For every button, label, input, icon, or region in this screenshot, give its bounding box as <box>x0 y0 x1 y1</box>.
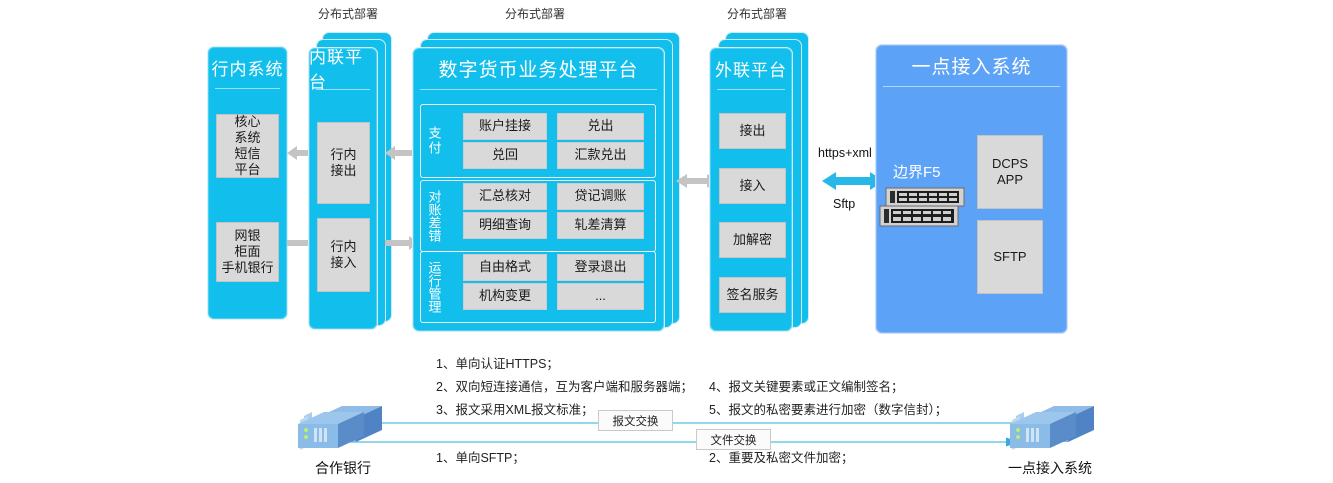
group-label-operations: 运行管理 <box>421 252 447 322</box>
caption-distributed-2: 分布式部署 <box>505 5 565 22</box>
chip-line: 核心 <box>234 114 260 130</box>
note-left-1: 1、单向认证HTTPS； <box>436 353 559 372</box>
flow-line-file-exchange <box>340 437 1020 447</box>
note-right-5: 5、报文的私密要素进行加密（数字信封）； <box>709 399 947 418</box>
server-icon-partner-bank <box>296 402 384 450</box>
link-label-message-exchange[interactable]: 报文交换 <box>598 410 673 431</box>
chip-line: DCPS <box>992 156 1028 172</box>
device-label-partner-bank: 合作银行 <box>296 458 390 478</box>
chip-line: 行内 <box>330 239 356 255</box>
chip-more[interactable]: ... <box>557 283 644 310</box>
label-sftp: Sftp <box>833 197 855 211</box>
caption-distributed-1: 分布式部署 <box>318 5 378 22</box>
panel-title-intranet: 内联平台 <box>309 48 377 88</box>
chip-encrypt-decrypt[interactable]: 加解密 <box>719 222 786 258</box>
title-divider <box>215 88 280 89</box>
title-divider <box>316 89 370 90</box>
chip-ext-in[interactable]: 接入 <box>719 168 786 204</box>
chip-exchange-out[interactable]: 兑出 <box>557 113 644 140</box>
chip-sftp[interactable]: SFTP <box>977 220 1043 294</box>
chip-remittance-out[interactable]: 汇款兑出 <box>557 142 644 169</box>
chip-core-system[interactable]: 核心 系统 短信 平台 <box>216 114 279 178</box>
chip-dcps-app[interactable]: DCPS APP <box>977 135 1043 209</box>
chip-line: APP <box>997 172 1023 188</box>
device-label-access-system: 一点接入系统 <box>994 458 1106 478</box>
chip-summary-check[interactable]: 汇总核对 <box>463 183 547 210</box>
chip-line: 柜面 <box>234 244 260 260</box>
title-divider <box>717 89 785 90</box>
chip-line: 网银 <box>234 228 260 244</box>
group-label-reconciliation: 对账差错 <box>421 181 447 251</box>
chip-credit-adjust[interactable]: 贷记调账 <box>557 183 644 210</box>
chip-line: 短信 <box>234 146 260 162</box>
group-label-payment: 支付 <box>421 105 447 177</box>
flow-line-message-exchange <box>340 418 1020 428</box>
chip-login-logout[interactable]: 登录退出 <box>557 254 644 281</box>
label-border-f5: 边界F5 <box>893 161 941 182</box>
caption-distributed-3: 分布式部署 <box>727 5 787 22</box>
panel-title-access-system: 一点接入系统 <box>876 45 1067 85</box>
chip-line: 行内 <box>330 147 356 163</box>
chip-signature-service[interactable]: 签名服务 <box>719 277 786 313</box>
label-https-xml: https+xml <box>818 146 872 160</box>
note-bottom-left-1: 1、单向SFTP； <box>436 447 525 466</box>
chip-account-link[interactable]: 账户挂接 <box>463 113 547 140</box>
chip-line: 接入 <box>330 255 356 271</box>
chip-exchange-back[interactable]: 兑回 <box>463 142 547 169</box>
chip-net-settlement[interactable]: 轧差清算 <box>557 212 644 239</box>
chip-intranet-in[interactable]: 行内 接入 <box>317 218 370 292</box>
chip-free-format[interactable]: 自由格式 <box>463 254 547 281</box>
chip-ext-out[interactable]: 接出 <box>719 113 786 149</box>
panel-title-external: 外联平台 <box>710 48 792 88</box>
panel-title-dcep: 数字货币业务处理平台 <box>413 48 664 88</box>
f5-device-icon <box>878 186 970 230</box>
note-right-4: 4、报文关键要素或正文编制签名； <box>709 376 903 395</box>
link-label-file-exchange[interactable]: 文件交换 <box>696 429 771 450</box>
chip-org-change[interactable]: 机构变更 <box>463 283 547 310</box>
chip-line: 接出 <box>330 163 356 179</box>
panel-title-bank-internal: 行内系统 <box>208 47 287 87</box>
note-left-3: 3、报文采用XML报文标准； <box>436 399 594 418</box>
chip-intranet-out[interactable]: 行内 接出 <box>317 122 370 204</box>
chip-line: 系统 <box>234 130 260 146</box>
chip-line: 平台 <box>234 162 260 178</box>
title-divider <box>883 86 1060 87</box>
chip-line: 手机银行 <box>221 260 273 276</box>
title-divider <box>420 89 657 90</box>
chip-detail-query[interactable]: 明细查询 <box>463 212 547 239</box>
server-icon-access-system <box>1008 402 1096 450</box>
note-left-2: 2、双向短连接通信，互为客户端和服务器端； <box>436 376 693 395</box>
chip-ebank-counter-mobile[interactable]: 网银 柜面 手机银行 <box>216 222 279 282</box>
